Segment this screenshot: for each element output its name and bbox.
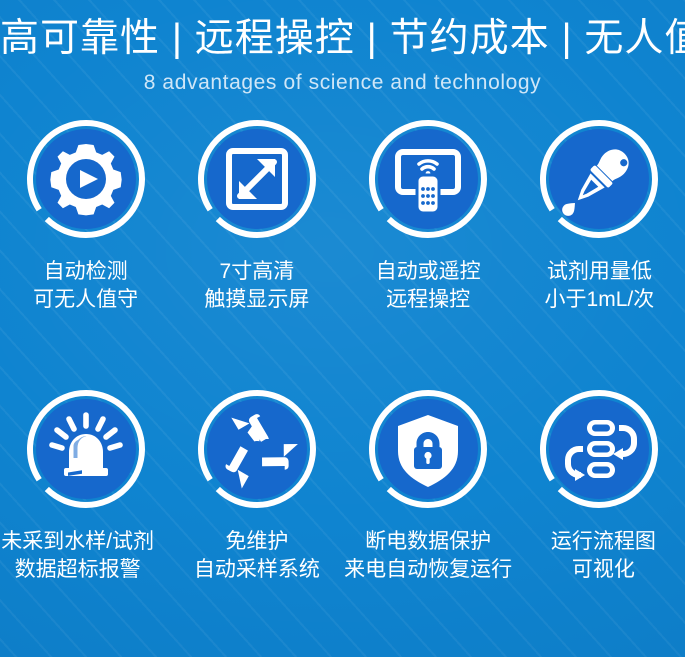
feature-label-5-line1: 未采到水样/试剂 (1, 530, 154, 553)
feature-label-2: 7寸高清 触摸显示屏 (204, 258, 309, 314)
feature-label-7-line2: 来电自动恢复运行 (344, 556, 512, 584)
feature-label-7-line1: 断电数据保护 (365, 530, 491, 553)
feature-item-2: 7寸高清 触摸显示屏 (171, 117, 342, 387)
feature-label-5: 未采到水样/试剂 数据超标报警 (1, 528, 154, 584)
feature-label-4: 试剂用量低 小于1mL/次 (545, 258, 655, 314)
feature-label-2-line1: 7寸高清 (220, 260, 295, 283)
feature-label-4-line2: 小于1mL/次 (545, 286, 655, 314)
feature-item-6: 免维护 自动采样系统 (171, 387, 342, 657)
feature-label-3: 自动或遥控 远程操控 (376, 258, 481, 314)
feature-label-2-line2: 触摸显示屏 (204, 286, 309, 314)
feature-label-8: 运行流程图 可视化 (551, 528, 656, 584)
feature-label-6-line2: 自动采样系统 (194, 556, 320, 584)
poster-header: 高可靠性 | 远程操控 | 节约成本 | 无人值守 8 advantages o… (0, 0, 685, 95)
badge-4 (537, 117, 661, 241)
feature-item-7: 断电数据保护 来电自动恢复运行 (343, 387, 514, 657)
page-title: 高可靠性 | 远程操控 | 节约成本 | 无人值守 (0, 16, 685, 62)
page-subtitle: 8 advantages of science and technology (0, 71, 685, 95)
alarm-siren-icon (24, 387, 148, 511)
feature-label-4-line1: 试剂用量低 (547, 260, 652, 283)
dropper-pipette-icon (537, 117, 661, 241)
feature-label-1: 自动检测 可无人值守 (33, 258, 138, 314)
badge-7 (366, 387, 490, 511)
feature-item-4: 试剂用量低 小于1mL/次 (514, 117, 685, 387)
badge-6 (195, 387, 319, 511)
feature-item-3: 自动或遥控 远程操控 (343, 117, 514, 387)
feature-item-5: 未采到水样/试剂 数据超标报警 (0, 387, 171, 657)
shield-lock-icon (366, 387, 490, 511)
badge-8 (537, 387, 661, 511)
gear-play-icon (24, 117, 148, 241)
monitor-remote-control-icon (366, 117, 490, 241)
feature-item-1: 自动检测 可无人值守 (0, 117, 171, 387)
feature-label-8-line2: 可视化 (551, 556, 656, 584)
recycle-icon (195, 387, 319, 511)
promo-poster: 高可靠性 | 远程操控 | 节约成本 | 无人值守 8 advantages o… (0, 0, 685, 657)
feature-label-3-line2: 远程操控 (376, 286, 481, 314)
feature-label-6-line1: 免维护 (225, 530, 288, 553)
feature-label-3-line1: 自动或遥控 (376, 260, 481, 283)
feature-label-1-line1: 自动检测 (44, 260, 128, 283)
feature-label-1-line2: 可无人值守 (33, 286, 138, 314)
badge-5 (24, 387, 148, 511)
feature-label-6: 免维护 自动采样系统 (194, 528, 320, 584)
feature-label-5-line2: 数据超标报警 (1, 556, 154, 584)
badge-2 (195, 117, 319, 241)
flowchart-loop-icon (537, 387, 661, 511)
feature-label-7: 断电数据保护 来电自动恢复运行 (344, 528, 512, 584)
badge-1 (24, 117, 148, 241)
feature-label-8-line1: 运行流程图 (551, 530, 656, 553)
features-grid: 自动检测 可无人值守 7寸高清 (0, 117, 685, 657)
expand-arrows-screen-icon (195, 117, 319, 241)
feature-item-8: 运行流程图 可视化 (514, 387, 685, 657)
badge-3 (366, 117, 490, 241)
